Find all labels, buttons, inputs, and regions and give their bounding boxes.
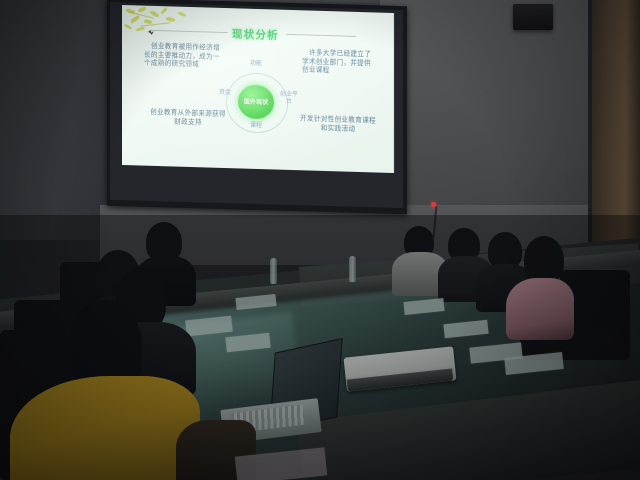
slide-text-top-right: 许多大学已经建立了学术创业部门，并提供创业课程: [302, 48, 376, 76]
diagram-spoke-left: 资金: [214, 90, 236, 97]
diagram-center-node: 国外现状: [238, 84, 274, 119]
diagram-spoke-right: 创业平台: [278, 92, 300, 106]
diagram-spoke-bottom: 课程: [245, 123, 267, 130]
microphone-led-icon: [431, 202, 436, 207]
diagram-center-label: 国外现状: [244, 98, 269, 106]
meeting-room-photo: 现状分析 创业教育被用作经济增长的主要推动力，成为一个成熟的研究领域 许多大学已…: [0, 0, 640, 480]
leaf-icon: [138, 7, 147, 13]
attendee-pink-jacket-torso: [506, 278, 574, 340]
water-bottle: [270, 258, 277, 284]
wall-speaker: [513, 4, 553, 30]
slide-text-bottom-left: 创业教育从外部来源获得财政支持: [148, 108, 228, 128]
water-bottle: [349, 256, 356, 282]
leaf-icon: [124, 23, 132, 30]
title-rule-right: [286, 34, 356, 37]
wooden-door: [592, 0, 640, 250]
left-wall: [0, 0, 112, 240]
title-rule-left: [150, 30, 228, 33]
leaf-icon: [130, 15, 141, 23]
leaf-icon: [160, 7, 168, 14]
leaf-icon: [136, 27, 145, 32]
leaf-icon: [178, 11, 186, 18]
presentation-slide: 现状分析 创业教育被用作经济增长的主要推动力，成为一个成熟的研究领域 许多大学已…: [122, 5, 394, 173]
slide-title: 现状分析: [232, 26, 279, 42]
slide-text-top-left: 创业教育被用作经济增长的主要推动力，成为一个成熟的研究领域: [144, 42, 226, 70]
attendee-pink-jacket-head: [524, 236, 564, 284]
slide-text-bottom-right: 开发针对性创业教育课程和实践活动: [298, 114, 378, 134]
diagram-spoke-top: 功能: [245, 61, 267, 68]
